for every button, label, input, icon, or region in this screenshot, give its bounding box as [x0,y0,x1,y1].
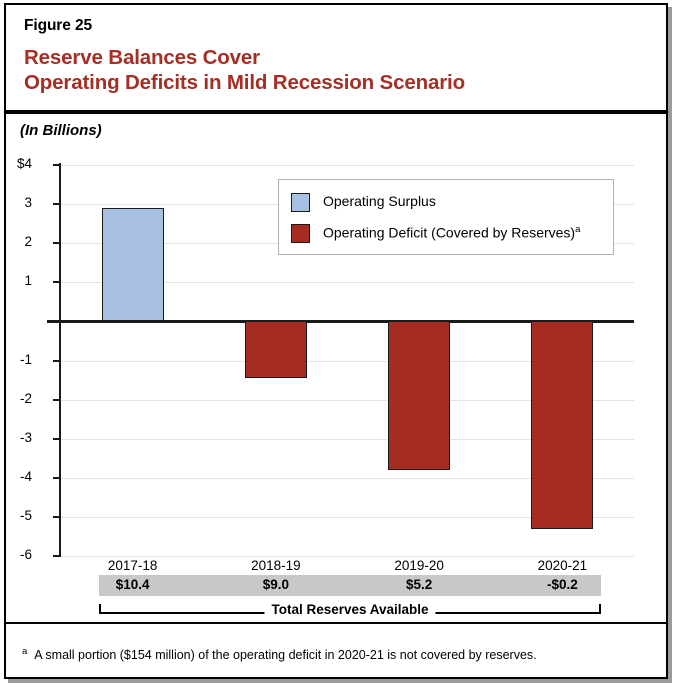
legend-footnote-marker: a [575,224,580,235]
bracket-tick-left [99,604,101,614]
legend-swatch-deficit [291,224,310,243]
y-axis-line [59,163,61,557]
y-axis-label: -1 [20,352,32,367]
y-axis-label: -2 [20,391,32,406]
figure-container: Figure 25 Reserve Balances Cover Operati… [4,3,668,679]
footnote-divider [6,622,666,624]
gridline [61,556,634,557]
chart-plot-area: $4321-1-2-3-4-5-6Operating SurplusOperat… [6,5,666,677]
reserve-value-2019-20: $5.2 [359,577,479,592]
reserve-value-2018-19: $9.0 [216,577,336,592]
y-axis-label: -6 [20,547,32,562]
x-axis-label-2018-19: 2018-19 [216,558,336,573]
y-axis-label: 1 [24,273,32,288]
bar-2018-19 [245,321,307,378]
bar-2019-20 [388,321,450,470]
x-axis-label-2017-18: 2017-18 [73,558,193,573]
y-axis-label: -5 [20,508,32,523]
footnote: aA small portion ($154 million) of the o… [22,646,537,662]
x-axis-label-2019-20: 2019-20 [359,558,479,573]
chart-legend: Operating SurplusOperating Deficit (Cove… [278,179,614,255]
legend-label-surplus: Operating Surplus [323,193,436,209]
bracket-label: Total Reserves Available [264,602,435,617]
y-axis-label: 2 [24,234,32,249]
reserve-value-2020-21: -$0.2 [502,577,622,592]
y-axis-label: $4 [17,156,32,171]
y-axis-label: -4 [20,469,32,484]
footnote-text: A small portion ($154 million) of the op… [34,648,536,662]
gridline [61,165,634,166]
reserve-value-2017-18: $10.4 [73,577,193,592]
y-axis-label: -3 [20,430,32,445]
x-axis-label-2020-21: 2020-21 [502,558,622,573]
y-axis-label: 3 [24,195,32,210]
legend-label-deficit: Operating Deficit (Covered by Reserves)a [323,224,580,241]
bracket-tick-right [599,604,601,614]
bar-2017-18 [102,208,164,321]
total-reserves-bracket: Total Reserves Available [99,602,601,614]
legend-swatch-surplus [291,193,310,212]
footnote-marker: a [22,646,27,657]
bar-2020-21 [531,321,593,528]
